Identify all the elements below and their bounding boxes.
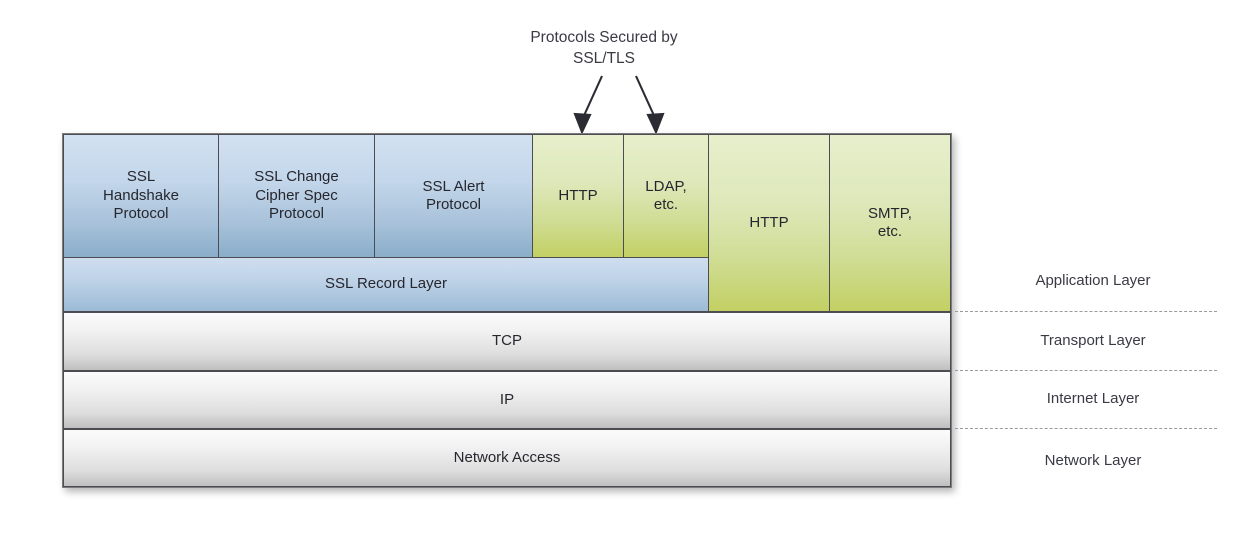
layer-label-application: Application Layer	[968, 272, 1218, 289]
diagram-canvas: Protocols Secured by SSL/TLS SSL Handsha…	[0, 0, 1236, 554]
cell-ssl-alert-protocol[interactable]: SSL Alert Protocol	[374, 134, 533, 258]
layer-label-internet: Internet Layer	[968, 390, 1218, 407]
callout-arrows	[540, 70, 700, 136]
cell-ssl-record-layer[interactable]: SSL Record Layer	[63, 257, 709, 312]
layer-divider-transport-internet	[955, 370, 1217, 371]
protocol-stack-frame: SSL Handshake Protocol SSL Change Cipher…	[62, 133, 952, 488]
cell-secured-http[interactable]: HTTP	[532, 134, 624, 258]
cell-ip[interactable]: IP	[63, 371, 951, 429]
arrow-line-left	[582, 76, 602, 120]
layer-divider-application-transport	[955, 311, 1217, 312]
arrow-head-right	[648, 114, 663, 132]
layer-label-transport: Transport Layer	[968, 332, 1218, 349]
layer-label-network: Network Layer	[968, 452, 1218, 469]
cell-unsecured-http[interactable]: HTTP	[708, 134, 830, 312]
arrow-head-left	[575, 114, 590, 132]
callout-title: Protocols Secured by SSL/TLS	[449, 27, 759, 69]
arrow-line-right	[636, 76, 656, 120]
cell-unsecured-smtp[interactable]: SMTP, etc.	[829, 134, 951, 312]
cell-network-access[interactable]: Network Access	[63, 429, 951, 487]
cell-tcp[interactable]: TCP	[63, 312, 951, 371]
cell-ssl-handshake-protocol[interactable]: SSL Handshake Protocol	[63, 134, 219, 258]
layer-divider-internet-network	[955, 428, 1217, 429]
cell-ssl-change-cipher-spec-protocol[interactable]: SSL Change Cipher Spec Protocol	[218, 134, 375, 258]
cell-secured-ldap[interactable]: LDAP, etc.	[623, 134, 709, 258]
